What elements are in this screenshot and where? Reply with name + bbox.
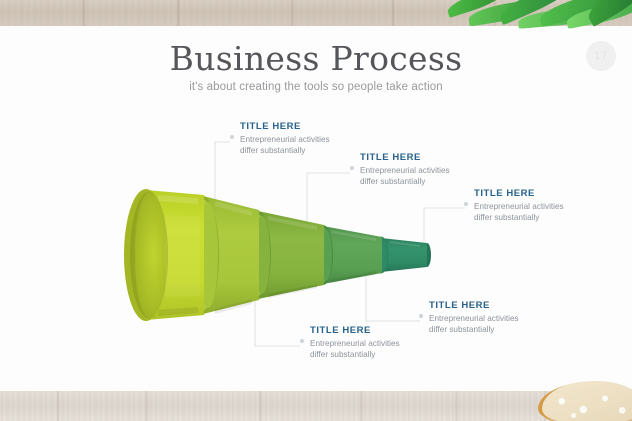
funnel-segment-3[interactable]: [245, 211, 324, 299]
callout-marker-dot: [464, 202, 468, 206]
funnel-segment-1[interactable]: [124, 189, 204, 321]
page-title: Business Process: [0, 40, 632, 78]
callout-body-line-2: differ substantially: [310, 350, 442, 361]
leaf-decoration-top-right: [442, 0, 632, 30]
funnel-segment-4[interactable]: [313, 225, 382, 285]
callout-body-line-2: differ substantially: [240, 146, 372, 157]
callout-title: TITLE HERE: [360, 152, 492, 164]
bread-slice-decoration: [538, 381, 632, 421]
callout-marker-dot: [230, 135, 234, 139]
callout-marker-dot: [419, 314, 423, 318]
callout-body-line-1: Entrepreneurial activities: [429, 314, 561, 325]
callout-title: TITLE HERE: [310, 325, 442, 337]
callout-body-line-2: differ substantially: [429, 325, 561, 336]
callout-2[interactable]: TITLE HERE Entrepreneurial activities di…: [360, 152, 492, 187]
callout-title: TITLE HERE: [474, 188, 606, 200]
page-subtitle: it's about creating the tools so people …: [0, 81, 632, 93]
callout-body-line-1: Entrepreneurial activities: [360, 166, 492, 177]
slide-header: Business Process it's about creating the…: [0, 40, 632, 93]
callout-title: TITLE HERE: [429, 300, 561, 312]
callout-body-line-2: differ substantially: [474, 213, 606, 224]
page-number-badge: 17: [586, 41, 616, 71]
callout-4[interactable]: TITLE HERE Entrepreneurial activities di…: [310, 325, 442, 360]
callout-marker-dot: [300, 339, 304, 343]
callout-marker-dot: [350, 166, 354, 170]
callout-1[interactable]: TITLE HERE Entrepreneurial activities di…: [240, 121, 372, 156]
callout-body-line-1: Entrepreneurial activities: [310, 339, 442, 350]
callout-body-line-2: differ substantially: [360, 177, 492, 188]
slide-canvas: Business Process it's about creating the…: [0, 0, 632, 421]
funnel-segment-2[interactable]: [187, 196, 259, 314]
callout-3[interactable]: TITLE HERE Entrepreneurial activities di…: [474, 188, 606, 223]
callout-body-line-1: Entrepreneurial activities: [474, 202, 606, 213]
funnel-segment-5[interactable]: [374, 237, 432, 274]
callout-5[interactable]: TITLE HERE Entrepreneurial activities di…: [429, 300, 561, 335]
callout-body-line-1: Entrepreneurial activities: [240, 135, 372, 146]
callout-title: TITLE HERE: [240, 121, 372, 133]
